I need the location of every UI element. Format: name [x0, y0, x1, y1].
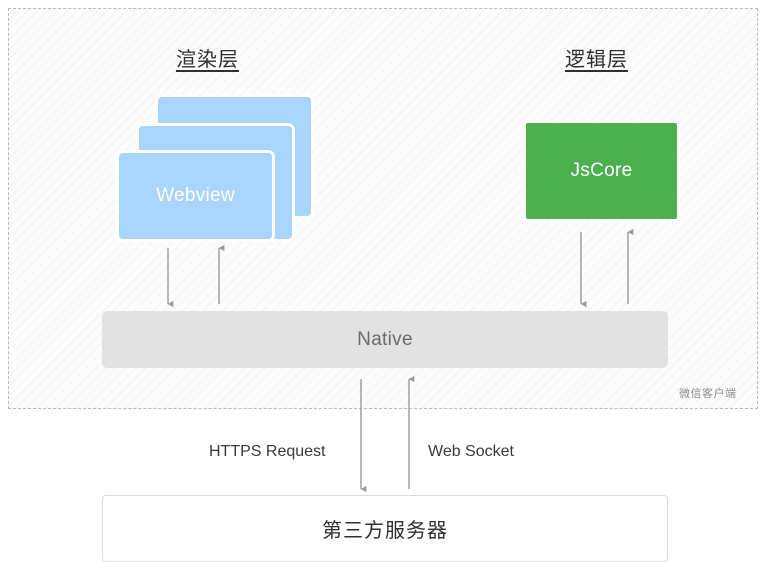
third-party-server-box: 第三方服务器	[102, 495, 668, 562]
webview-card-front: Webview	[116, 150, 275, 242]
architecture-diagram: 渲染层 逻辑层 Webview JsCore Native 微信客户端 HTTP…	[0, 0, 768, 562]
render-layer-title: 渲染层	[176, 43, 239, 72]
native-label: Native	[357, 329, 413, 351]
logic-layer-title: 逻辑层	[565, 43, 628, 72]
jscore-label: JsCore	[571, 160, 633, 182]
jscore-box: JsCore	[524, 121, 679, 221]
wechat-client-caption: 微信客户端	[679, 385, 737, 401]
web-socket-label: Web Socket	[428, 443, 514, 461]
https-request-label: HTTPS Request	[209, 443, 325, 461]
webview-label: Webview	[156, 185, 235, 207]
native-bar: Native	[102, 311, 668, 368]
third-party-server-label: 第三方服务器	[322, 514, 448, 543]
